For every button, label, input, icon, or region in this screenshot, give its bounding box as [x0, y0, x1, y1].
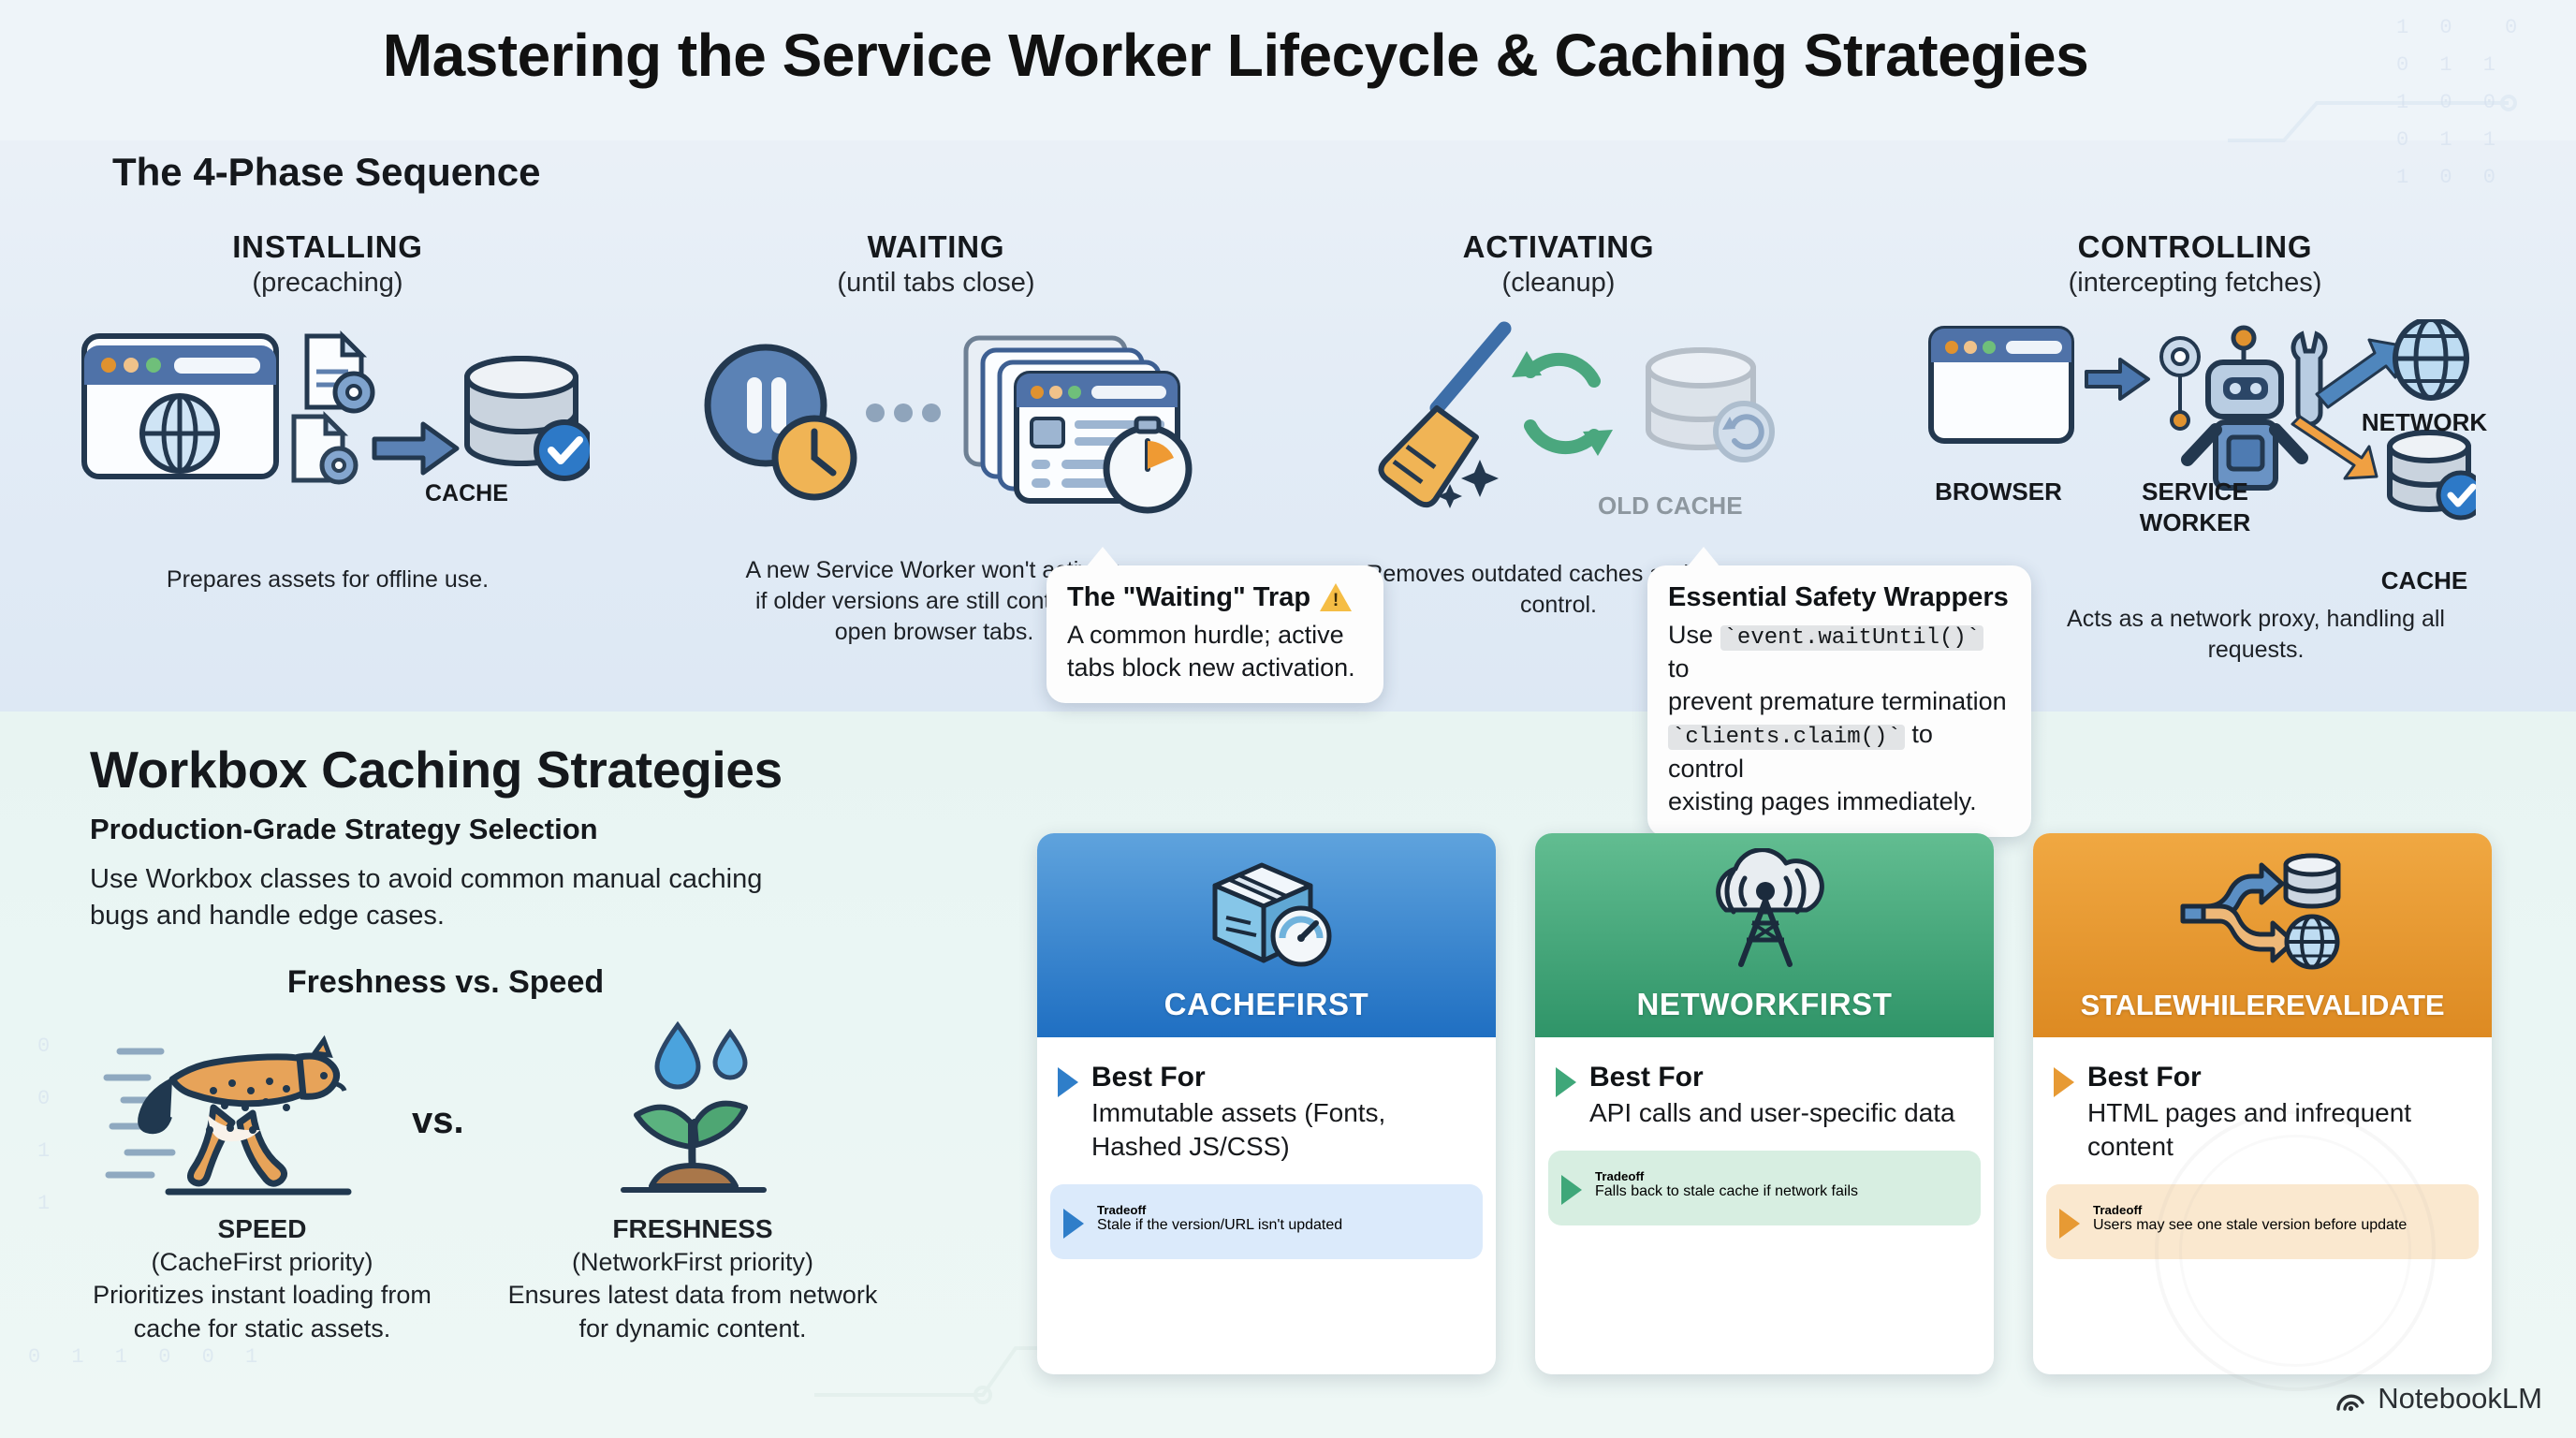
sprout-icon: [599, 1016, 786, 1203]
infographic-canvas: 1 0 00 1 11 0 00 1 11 0 0 0 1 1 0 0 1 00…: [0, 0, 2576, 1438]
safety-line4: existing pages immediately.: [1668, 787, 1977, 815]
cachefirst-best-for: Best For Immutable assets (Fonts, Hashed…: [1037, 1037, 1496, 1164]
controlling-browser-label: BROWSER: [1928, 477, 2069, 506]
play-triangle-icon: [1556, 1067, 1576, 1097]
phase-activating-name: ACTIVATING: [1268, 229, 1849, 265]
strategy-card-networkfirst[interactable]: NETWORKFIRST Best For API calls and user…: [1535, 833, 1994, 1374]
cachefirst-tradeoff-label: Tradeoff: [1097, 1203, 1342, 1217]
lifecycle-section-title: The 4-Phase Sequence: [112, 150, 541, 195]
play-triangle-icon: [1561, 1175, 1582, 1205]
play-triangle-icon: [1058, 1067, 1078, 1097]
callout-waiting-trap-body: A common hurdle; active tabs block new a…: [1067, 619, 1363, 684]
speed-text: Prioritizes instant loading from cache f…: [93, 1281, 432, 1342]
cachefirst-card-header: CACHEFIRST: [1037, 833, 1496, 1037]
cachefirst-tradeoff: Tradeoff Stale if the version/URL isn't …: [1050, 1184, 1483, 1259]
phase-installing-illustration: [37, 319, 618, 535]
freshness-text: Ensures latest data from network for dyn…: [508, 1281, 878, 1342]
installing-cache-label: CACHE: [425, 480, 508, 507]
networkfirst-tradeoff-text: Falls back to stale cache if network fai…: [1595, 1183, 1858, 1200]
phase-waiting-illustration: [646, 319, 1226, 535]
notebooklm-brand-label: NotebookLM: [2378, 1382, 2542, 1416]
phase-activating: ACTIVATING (cleanup): [1268, 229, 1849, 535]
speed-priority: (CacheFirst priority): [151, 1248, 373, 1276]
play-triangle-icon: [1063, 1209, 1084, 1239]
warning-triangle-icon: [1320, 583, 1352, 611]
cachefirst-tradeoff-text: Stale if the version/URL isn't updated: [1097, 1217, 1342, 1234]
phase-installing-name: INSTALLING: [37, 229, 618, 265]
networkfirst-best-for: Best For API calls and user-specific dat…: [1535, 1037, 1994, 1130]
networkfirst-best-for-text: API calls and user-specific data: [1589, 1096, 1955, 1130]
controlling-service-worker-label-line1: SERVICE: [2111, 477, 2279, 506]
safety-line2: prevent premature termination: [1668, 687, 2007, 715]
phase-controlling-caption: Acts as a network proxy, handling all re…: [2059, 604, 2452, 666]
play-triangle-icon: [2054, 1067, 2074, 1097]
networkfirst-best-for-label: Best For: [1589, 1062, 1955, 1093]
speed-name: SPEED: [218, 1214, 307, 1243]
phase-installing-sub: (precaching): [37, 268, 618, 299]
workbox-body-text: Use Workbox classes to avoid common manu…: [90, 861, 801, 934]
split-arrows-icon: [2033, 848, 2492, 970]
callout-safety-wrappers-title: Essential Safety Wrappers: [1668, 582, 2011, 613]
phase-activating-illustration: [1268, 319, 1849, 535]
cachefirst-best-for-text: Immutable assets (Fonts, Hashed JS/CSS): [1091, 1096, 1475, 1164]
freshness-vs-speed-title: Freshness vs. Speed: [90, 964, 801, 1001]
phase-controlling-name: CONTROLLING: [1905, 229, 2485, 265]
activating-old-cache-label: OLD CACHE: [1598, 492, 1743, 521]
page-title: Mastering the Service Worker Lifecycle &…: [0, 21, 2471, 90]
vs-label: vs.: [412, 1100, 464, 1142]
phase-controlling-sub: (intercepting fetches): [1905, 268, 2485, 299]
controlling-service-worker-label-line2: WORKER: [2111, 508, 2279, 537]
callout-safety-wrappers-body: Use `event.waitUntil()` to prevent prema…: [1668, 619, 2011, 818]
stalewhilerevalidate-card-title: STALEWHILEREVALIDATE: [2033, 989, 2492, 1022]
workbox-subtitle: Production-Grade Strategy Selection: [90, 813, 598, 846]
cloud-tower-icon: [1535, 848, 1994, 970]
notebooklm-logo-icon: [2334, 1383, 2366, 1415]
callout-waiting-trap: The "Waiting" Trap A common hurdle; acti…: [1046, 565, 1383, 703]
phase-waiting: WAITING (until tabs close): [646, 229, 1226, 535]
networkfirst-tradeoff-label: Tradeoff: [1595, 1169, 1858, 1183]
stalewhilerevalidate-card-header: STALEWHILEREVALIDATE: [2033, 833, 2492, 1037]
code-clients-claim: `clients.claim()`: [1668, 725, 1905, 750]
cheetah-icon: [103, 1025, 384, 1198]
freshness-name: FRESHNESS: [612, 1214, 772, 1243]
safety-line1-post: to: [1668, 654, 1690, 682]
speed-caption: SPEED (CacheFirst priority) Prioritizes …: [66, 1212, 459, 1345]
freshness-priority: (NetworkFirst priority): [572, 1248, 813, 1276]
play-triangle-icon: [2059, 1209, 2080, 1239]
callout-waiting-trap-title: The "Waiting" Trap: [1067, 582, 1363, 613]
workbox-section-title: Workbox Caching Strategies: [90, 740, 783, 800]
freshness-caption: FRESHNESS (NetworkFirst priority) Ensure…: [496, 1212, 889, 1345]
phase-installing-caption: Prepares assets for offline use.: [131, 565, 524, 595]
phase-waiting-name: WAITING: [646, 229, 1226, 265]
code-event-waituntil: `event.waitUntil()`: [1720, 625, 1984, 651]
notebooklm-footer: NotebookLM: [2334, 1382, 2542, 1416]
strategy-card-cachefirst[interactable]: CACHEFIRST Best For Immutable assets (Fo…: [1037, 833, 1496, 1374]
package-speed-icon: [1037, 848, 1496, 970]
networkfirst-card-header: NETWORKFIRST: [1535, 833, 1994, 1037]
stalewhilerevalidate-best-for-label: Best For: [2087, 1062, 2471, 1093]
cachefirst-card-title: CACHEFIRST: [1037, 987, 1496, 1022]
phase-activating-sub: (cleanup): [1268, 268, 1849, 299]
safety-line1-pre: Use: [1668, 621, 1720, 649]
watermark-stamp: [2155, 1110, 2436, 1391]
cachefirst-best-for-label: Best For: [1091, 1062, 1475, 1093]
phase-waiting-sub: (until tabs close): [646, 268, 1226, 299]
controlling-cache-label: CACHE: [2340, 566, 2509, 595]
networkfirst-tradeoff: Tradeoff Falls back to stale cache if ne…: [1548, 1151, 1981, 1225]
networkfirst-card-title: NETWORKFIRST: [1535, 987, 1994, 1022]
callout-safety-wrappers: Essential Safety Wrappers Use `event.wai…: [1647, 565, 2031, 837]
phase-installing: INSTALLING (precaching): [37, 229, 618, 535]
controlling-network-label: NETWORK: [2340, 408, 2509, 437]
